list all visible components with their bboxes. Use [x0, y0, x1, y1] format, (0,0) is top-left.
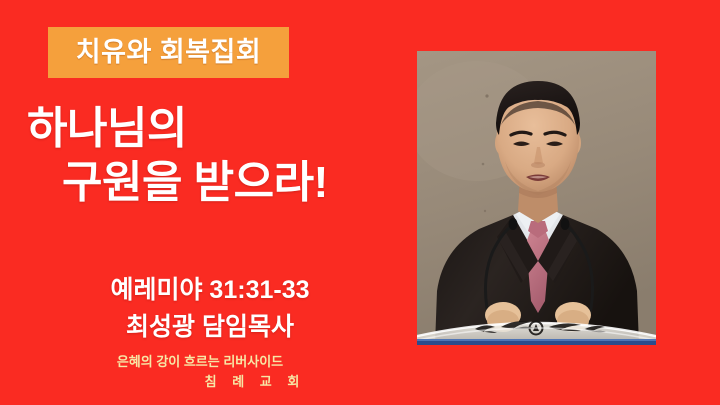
scripture-reference: 예레미야 31:31-33 — [0, 272, 420, 309]
preacher-photo-image — [417, 51, 656, 345]
event-badge-label: 치유와 회복집회 — [76, 39, 261, 66]
church-name: 침 례 교 회 — [0, 372, 400, 392]
sermon-title-line-1: 하나님의 — [0, 102, 420, 156]
sermon-title: 하나님의 구원을 받으라! — [0, 102, 420, 209]
church-tagline: 은혜의 강이 흐르는 리버사이드 — [0, 352, 400, 372]
sermon-slide: 치유와 회복집회 하나님의 구원을 받으라! 예레미야 31:31-33 최성광… — [0, 0, 720, 405]
preacher-photo — [417, 51, 656, 345]
sermon-title-line-2: 구원을 받으라! — [0, 156, 420, 210]
event-badge: 치유와 회복집회 — [48, 27, 289, 78]
church-identity: 은혜의 강이 흐르는 리버사이드 침 례 교 회 — [0, 352, 400, 392]
speaker-name: 최성광 담임목사 — [0, 309, 420, 346]
sermon-meta: 예레미야 31:31-33 최성광 담임목사 — [0, 272, 420, 346]
